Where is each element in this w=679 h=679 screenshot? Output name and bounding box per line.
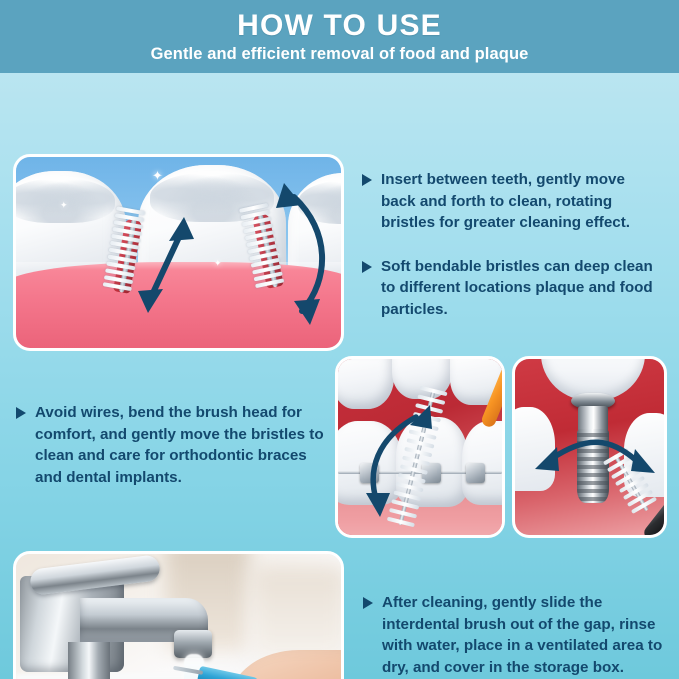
instruction-group-top-right: Insert between teeth, gently move back a… [362, 169, 662, 320]
curved-double-arrow-icon [350, 395, 436, 523]
image-braces [335, 356, 505, 538]
triangle-right-icon [362, 261, 372, 273]
instruction-item: Insert between teeth, gently move back a… [362, 169, 662, 234]
instruction-item: Soft bendable bristles can deep clean to… [362, 256, 662, 321]
instruction-item: After cleaning, gently slide the interde… [363, 592, 665, 678]
instruction-text: Avoid wires, bend the brush head for com… [35, 402, 334, 488]
curved-double-arrow-icon [268, 175, 338, 331]
image-implant [512, 356, 667, 538]
brace-bracket [466, 463, 485, 483]
instruction-text: Soft bendable bristles can deep clean to… [381, 256, 662, 321]
curved-double-arrow-icon [525, 437, 663, 495]
instruction-text: After cleaning, gently slide the interde… [382, 592, 665, 678]
double-arrow-icon [136, 213, 196, 319]
content-stage: ✦ ✦ ✦ ✦ [0, 73, 679, 679]
instruction-group-middle-left: Avoid wires, bend the brush head for com… [16, 402, 334, 488]
triangle-right-icon [362, 174, 372, 186]
page-subtitle: Gentle and efficient removal of food and… [151, 45, 529, 64]
sparkle-icon: ✦ [60, 201, 68, 210]
sparkle-icon: ✦ [152, 169, 163, 182]
image-rinsing [13, 551, 344, 679]
instruction-group-bottom-right: After cleaning, gently slide the interde… [363, 592, 665, 678]
triangle-right-icon [363, 597, 373, 609]
sparkle-icon: ✦ [214, 259, 222, 268]
instruction-item: Avoid wires, bend the brush head for com… [16, 402, 334, 488]
faucet-neck [68, 642, 110, 679]
image-teeth-interdental: ✦ ✦ ✦ ✦ [13, 154, 344, 351]
header-banner: HOW TO USE Gentle and efficient removal … [0, 0, 679, 73]
triangle-right-icon [16, 407, 26, 419]
instruction-text: Insert between teeth, gently move back a… [381, 169, 662, 234]
page-title: HOW TO USE [237, 11, 442, 42]
background-blur [250, 565, 344, 660]
